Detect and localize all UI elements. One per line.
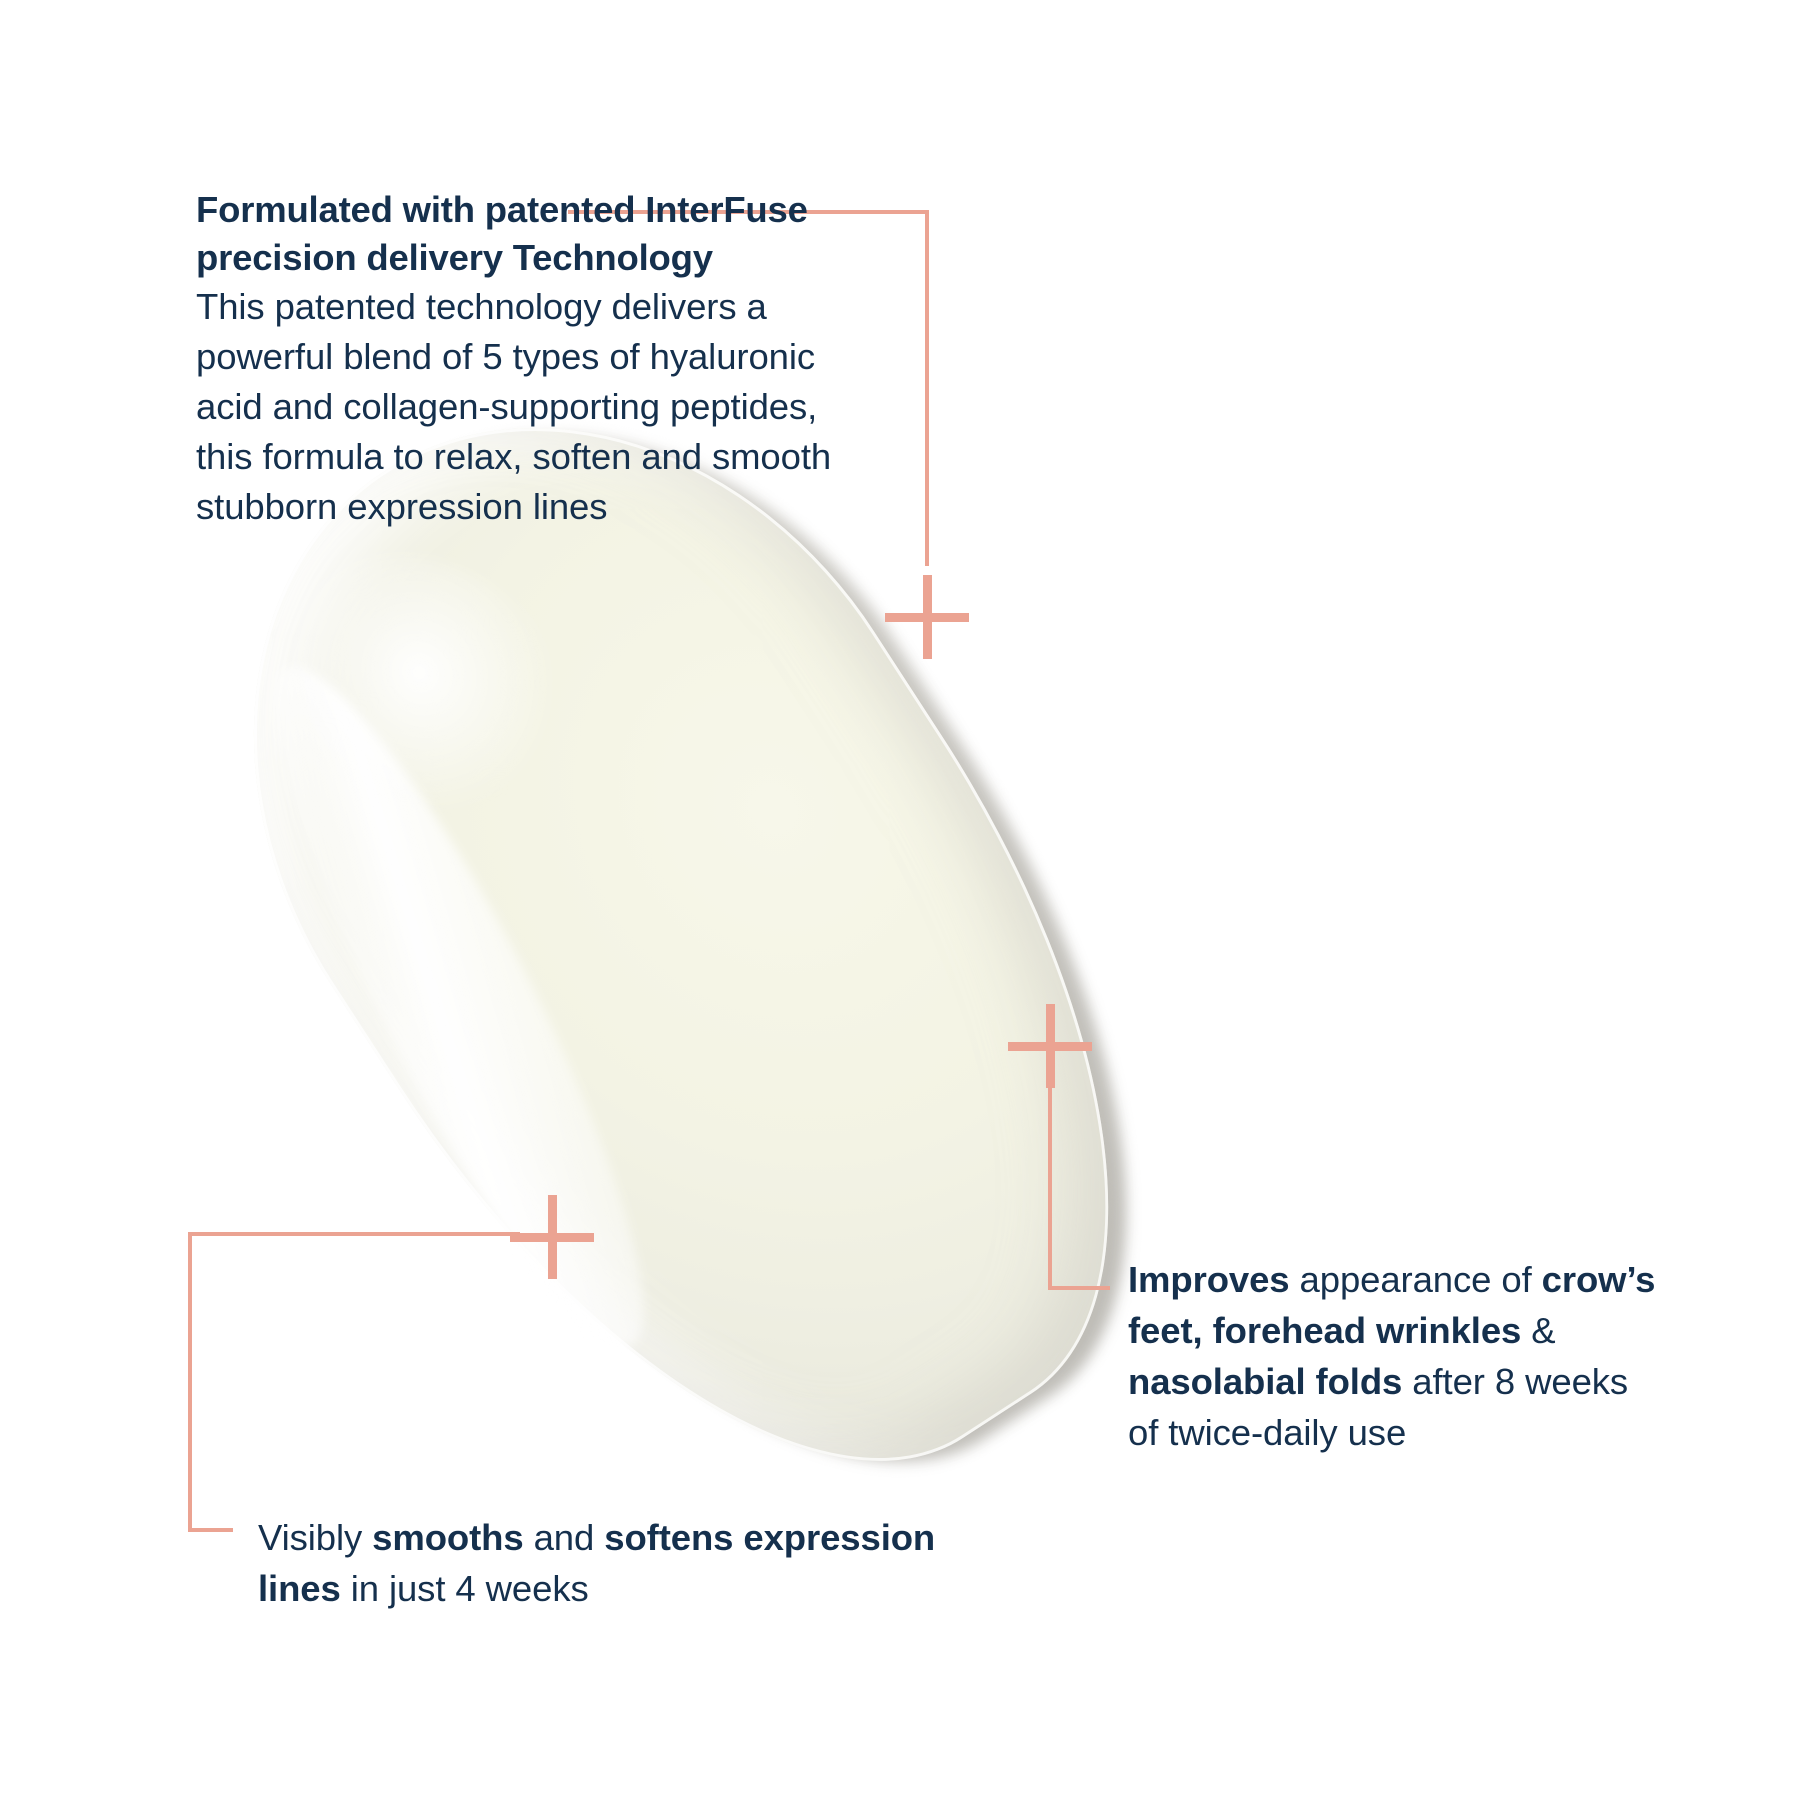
callout-technology: Formulated with patented InterFuse preci… [196, 186, 856, 532]
callout-improves-text: Improves appearance of crow’s feet, fore… [1128, 1259, 1655, 1453]
plus-marker-improves [1008, 1004, 1092, 1088]
callout-smooths-text: Visibly smooths and softens expression l… [258, 1517, 935, 1609]
plus-marker-vertical-bar [923, 575, 932, 659]
plus-marker-vertical-bar [1046, 1004, 1055, 1088]
leader-line-improves [1050, 1070, 1110, 1288]
plus-marker-technology [885, 575, 969, 659]
callout-technology-heading: Formulated with patented InterFuse preci… [196, 186, 856, 282]
callout-improves: Improves appearance of crow’s feet, fore… [1128, 1254, 1668, 1458]
leader-line-smooths [190, 1234, 520, 1530]
callout-technology-body: This patented technology delivers a powe… [196, 282, 856, 532]
callout-smooths: Visibly smooths and softens expression l… [258, 1512, 958, 1614]
infographic-canvas: Formulated with patented InterFuse preci… [0, 0, 1800, 1800]
plus-marker-vertical-bar [548, 1195, 557, 1279]
plus-marker-smooths [510, 1195, 594, 1279]
